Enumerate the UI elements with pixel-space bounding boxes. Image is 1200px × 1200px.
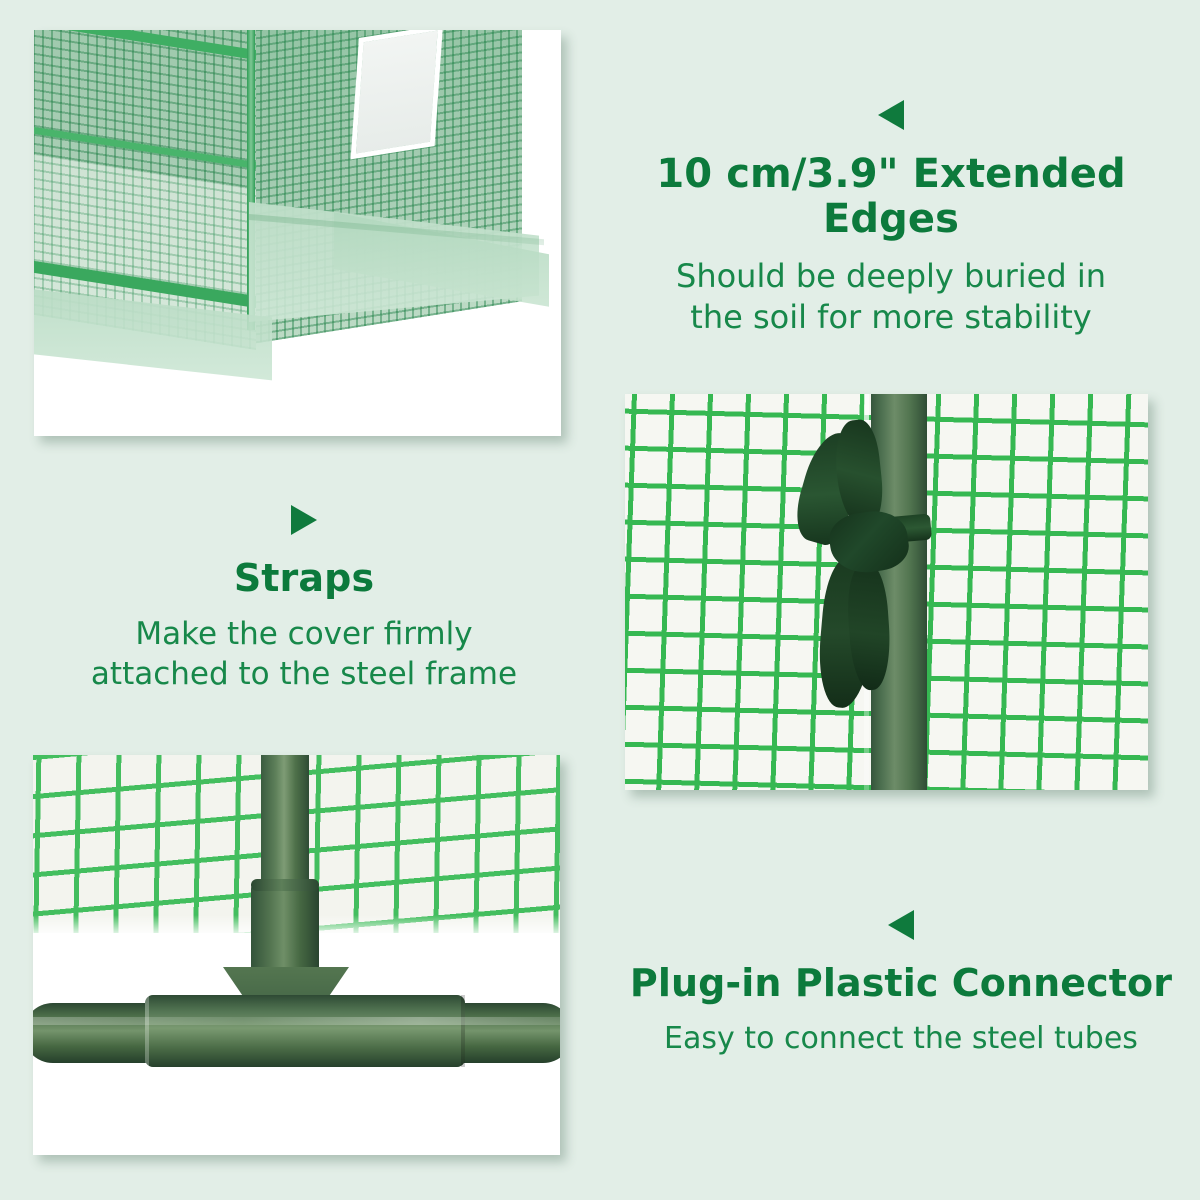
feature-subtitle-line1: Make the cover firmly <box>40 614 568 654</box>
tube-highlight <box>33 1017 560 1025</box>
connector-sleeve-seam-right <box>461 995 465 1067</box>
feature-title: Plug-in Plastic Connector <box>608 962 1194 1005</box>
feature-title: 10 cm/3.9" Extended Edges <box>596 152 1186 242</box>
connector-horizontal-sleeve <box>145 995 465 1067</box>
feature-subtitle-line1: Should be deeply buried in <box>596 256 1186 298</box>
feature-subtitle-line1: Easy to connect the steel tubes <box>608 1019 1194 1058</box>
vent-window <box>351 30 443 159</box>
greenhouse-corner-scene <box>34 30 561 436</box>
feature-title: Straps <box>40 557 568 600</box>
feature-block-plastic-connector: Plug-in Plastic Connector Easy to connec… <box>608 910 1194 1058</box>
feature-subtitle-line2: the soil for more stability <box>596 297 1186 339</box>
infographic-canvas: 10 cm/3.9" Extended Edges Should be deep… <box>0 0 1200 1200</box>
photo-plastic-connector <box>33 755 560 1155</box>
triangle-right-icon <box>291 505 317 535</box>
triangle-left-icon <box>888 910 914 940</box>
photo-extended-edges <box>34 30 561 436</box>
photo-straps <box>625 394 1148 790</box>
feature-subtitle-line2: attached to the steel frame <box>40 654 568 694</box>
triangle-left-icon <box>878 100 904 130</box>
feature-block-straps: Straps Make the cover firmly attached to… <box>40 505 568 694</box>
connector-socket-lip <box>251 879 319 891</box>
connector-sleeve-seam-left <box>145 995 149 1067</box>
feature-block-extended-edges: 10 cm/3.9" Extended Edges Should be deep… <box>596 100 1186 339</box>
